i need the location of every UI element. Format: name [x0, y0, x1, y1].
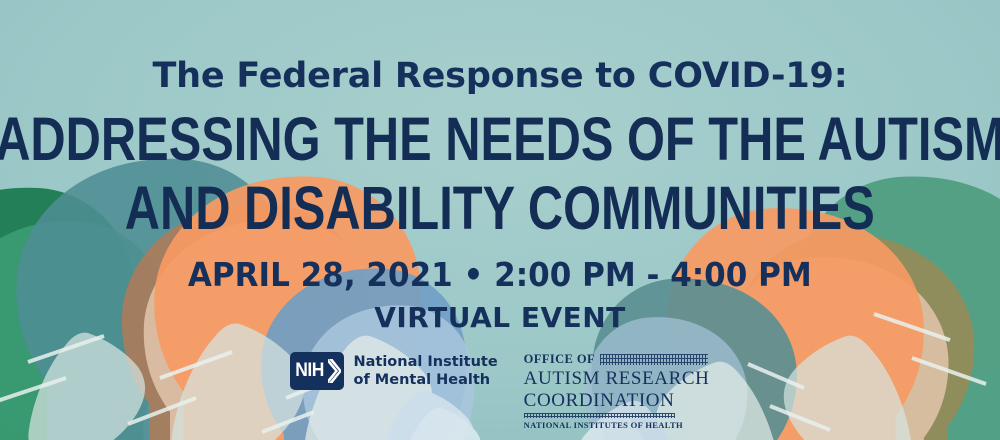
oarc-dot-rule-icon [524, 413, 675, 418]
event-banner: The Federal Response to COVID-19: ADDRES… [0, 0, 1000, 440]
logo-row: NIH National Institute of Mental Health … [0, 352, 1000, 429]
page-title-line1: The Federal Response to COVID-19: [153, 59, 848, 94]
oarc-logo: OFFICE OF AUTISM RESEARCH COORDINATION N… [524, 352, 710, 429]
nih-logo-wordmark: National Institute of Mental Health [353, 353, 497, 389]
page-title-line3: AND DISABILITY COMMUNITIES [125, 178, 875, 239]
nih-logo: NIH National Institute of Mental Health [290, 352, 497, 390]
chevron-right-icon [328, 358, 341, 384]
oarc-dot-grid-icon [600, 354, 708, 365]
oarc-office-label: OFFICE OF [524, 353, 595, 366]
oarc-parent-org-label: NATIONAL INSTITUTES OF HEALTH [524, 421, 710, 430]
event-date-time: APRIL 28, 2021 • 2:00 PM - 4:00 PM [188, 258, 812, 291]
nih-wordmark-line2: of Mental Health [353, 371, 497, 389]
event-venue: VIRTUAL EVENT [374, 304, 626, 332]
oarc-line-autism-research: AUTISM RESEARCH [524, 369, 710, 388]
nih-mark-text: NIH [296, 360, 325, 382]
oarc-line-coordination: COORDINATION [524, 391, 710, 410]
page-title-line2: ADDRESSING THE NEEDS OF THE AUTISM [0, 109, 1000, 170]
nih-wordmark-line1: National Institute [353, 353, 497, 371]
nih-logo-mark: NIH [290, 352, 344, 390]
